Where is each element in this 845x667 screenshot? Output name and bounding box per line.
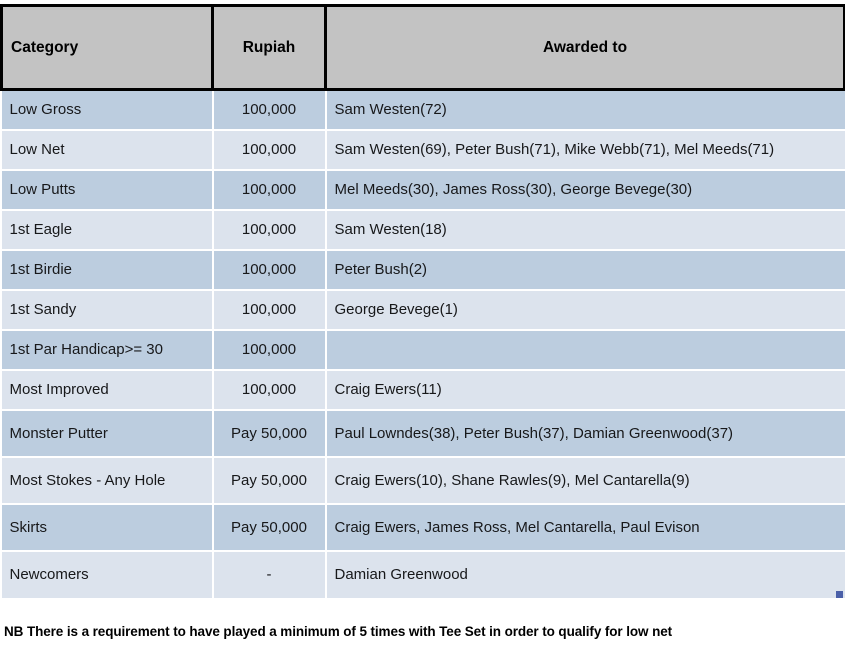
table-row[interactable]: 1st Birdie100,000Peter Bush(2)	[2, 250, 845, 290]
column-header-rupiah: Rupiah	[213, 6, 326, 90]
cell-category: 1st Par Handicap>= 30	[2, 330, 213, 370]
cell-awarded-to: Peter Bush(2)	[326, 250, 845, 290]
cell-rupiah: Pay 50,000	[213, 504, 326, 551]
cell-awarded-to: Mel Meeds(30), James Ross(30), George Be…	[326, 170, 845, 210]
table-row[interactable]: Most Improved100,000Craig Ewers(11)	[2, 370, 845, 410]
cell-awarded-to: Craig Ewers(11)	[326, 370, 845, 410]
table-row[interactable]: 1st Par Handicap>= 30100,000	[2, 330, 845, 370]
cell-awarded-to: George Bevege(1)	[326, 290, 845, 330]
cell-category: Monster Putter	[2, 410, 213, 457]
table-row[interactable]: 1st Sandy100,000George Bevege(1)	[2, 290, 845, 330]
table-row[interactable]: 1st Eagle100,000Sam Westen(18)	[2, 210, 845, 250]
cell-category: Low Net	[2, 130, 213, 170]
table-row[interactable]: Newcomers-Damian Greenwood	[2, 551, 845, 598]
cell-category: Most Improved	[2, 370, 213, 410]
cell-rupiah: 100,000	[213, 130, 326, 170]
cell-rupiah: -	[213, 551, 326, 598]
cell-awarded-to: Sam Westen(18)	[326, 210, 845, 250]
page-root: Category Rupiah Awarded to Low Gross100,…	[0, 0, 845, 667]
table-row[interactable]: SkirtsPay 50,000Craig Ewers, James Ross,…	[2, 504, 845, 551]
table-header-row: Category Rupiah Awarded to	[2, 6, 845, 90]
cell-awarded-to: Paul Lowndes(38), Peter Bush(37), Damian…	[326, 410, 845, 457]
cell-category: 1st Birdie	[2, 250, 213, 290]
cell-rupiah: Pay 50,000	[213, 410, 326, 457]
cell-awarded-to: Craig Ewers, James Ross, Mel Cantarella,…	[326, 504, 845, 551]
cell-category: 1st Sandy	[2, 290, 213, 330]
table-row[interactable]: Low Putts100,000Mel Meeds(30), James Ros…	[2, 170, 845, 210]
column-header-awarded-to: Awarded to	[326, 6, 845, 90]
table-row[interactable]: Monster PutterPay 50,000Paul Lowndes(38)…	[2, 410, 845, 457]
table-body: Low Gross100,000Sam Westen(72)Low Net100…	[2, 90, 845, 598]
cell-category: Most Stokes - Any Hole	[2, 457, 213, 504]
cell-awarded-to: Damian Greenwood	[326, 551, 845, 598]
cell-awarded-to: Sam Westen(72)	[326, 90, 845, 130]
table-header: Category Rupiah Awarded to	[2, 6, 845, 90]
cell-rupiah: 100,000	[213, 210, 326, 250]
cell-rupiah: 100,000	[213, 330, 326, 370]
column-header-category: Category	[2, 6, 213, 90]
table-row[interactable]: Most Stokes - Any HolePay 50,000Craig Ew…	[2, 457, 845, 504]
cell-category: Skirts	[2, 504, 213, 551]
cell-rupiah: 100,000	[213, 90, 326, 130]
cell-category: 1st Eagle	[2, 210, 213, 250]
footer-note: NB There is a requirement to have played…	[4, 624, 672, 639]
cell-awarded-to: Sam Westen(69), Peter Bush(71), Mike Web…	[326, 130, 845, 170]
table-row[interactable]: Low Net100,000Sam Westen(69), Peter Bush…	[2, 130, 845, 170]
awards-table-container: Category Rupiah Awarded to Low Gross100,…	[0, 4, 843, 598]
cell-rupiah: 100,000	[213, 250, 326, 290]
cell-rupiah: 100,000	[213, 290, 326, 330]
cell-awarded-to	[326, 330, 845, 370]
cell-category: Newcomers	[2, 551, 213, 598]
awards-table: Category Rupiah Awarded to Low Gross100,…	[0, 4, 845, 598]
cell-rupiah: 100,000	[213, 370, 326, 410]
table-row[interactable]: Low Gross100,000Sam Westen(72)	[2, 90, 845, 130]
cell-category: Low Gross	[2, 90, 213, 130]
cell-rupiah: 100,000	[213, 170, 326, 210]
cell-awarded-to: Craig Ewers(10), Shane Rawles(9), Mel Ca…	[326, 457, 845, 504]
table-resize-handle[interactable]	[836, 591, 843, 598]
cell-category: Low Putts	[2, 170, 213, 210]
cell-rupiah: Pay 50,000	[213, 457, 326, 504]
